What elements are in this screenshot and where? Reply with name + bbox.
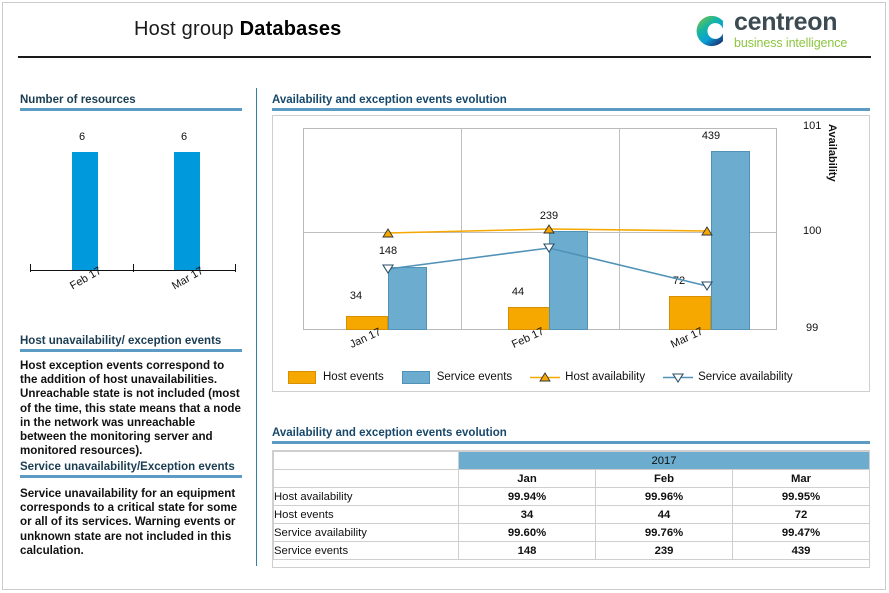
row-label: Service availability <box>274 524 459 542</box>
row-value: 44 <box>596 506 733 524</box>
resources-bar-value: 6 <box>62 131 102 143</box>
logo-name: centreon <box>734 10 847 35</box>
resources-axis-tick <box>133 264 134 272</box>
legend-label: Host availability <box>565 371 645 383</box>
table-header-month-row: Jan Feb Mar <box>274 470 870 488</box>
row-value: 439 <box>733 542 870 560</box>
host-unavailability-body: Host exception events correspond to the … <box>20 359 242 458</box>
number-of-resources-heading: Number of resources <box>20 94 136 106</box>
resources-axis-tick <box>30 264 31 272</box>
legend-label: Service events <box>437 371 512 383</box>
table-row: Host availability 99.94% 99.96% 99.95% <box>274 488 870 506</box>
table-corner-cell <box>274 452 459 470</box>
host-events-swatch-icon <box>288 371 316 384</box>
y-axis-tick-100: 100 <box>803 225 821 237</box>
table-row: Service availability 99.60% 99.76% 99.47… <box>274 524 870 542</box>
legend-label: Host events <box>323 371 384 383</box>
service-events-swatch-icon <box>402 371 430 384</box>
sidebar: Number of resources 6 Feb 17 6 Mar 17 Ho… <box>0 0 256 593</box>
legend-item-service-events[interactable]: Service events <box>402 371 512 384</box>
service-unavailability-heading: Service unavailability/Exception events <box>20 461 235 473</box>
number-of-resources-heading-underline <box>20 108 242 111</box>
legend-item-host-availability[interactable]: Host availability <box>530 371 645 384</box>
centreon-wordmark: centreon business intelligence <box>734 10 847 50</box>
row-label: Service events <box>274 542 459 560</box>
legend-label: Service availability <box>698 371 793 383</box>
row-value: 148 <box>459 542 596 560</box>
row-value: 99.60% <box>459 524 596 542</box>
centreon-logo: centreon business intelligence <box>692 11 872 51</box>
availability-line-series <box>303 128 777 330</box>
legend-item-service-availability[interactable]: Service availability <box>663 371 793 384</box>
column-divider <box>256 88 257 566</box>
host-unavailability-heading-underline <box>20 349 242 352</box>
legend-item-host-events[interactable]: Host events <box>288 371 384 384</box>
host-unavailability-heading: Host unavailability/ exception events <box>20 335 221 347</box>
service-availability-marker <box>702 282 712 290</box>
table-corner-cell <box>274 470 459 488</box>
chart-section-heading: Availability and exception events evolut… <box>272 94 507 106</box>
availability-table: 2017 Jan Feb Mar Host availability 99.94… <box>273 451 870 560</box>
table-column-header-feb: Feb <box>596 470 733 488</box>
row-value: 99.94% <box>459 488 596 506</box>
service-availability-line <box>388 248 707 286</box>
row-value: 239 <box>596 542 733 560</box>
table-column-header-mar: Mar <box>733 470 870 488</box>
chart-legend: Host events Service events Host availabi… <box>288 368 811 386</box>
triangle-up-line-icon <box>530 371 560 384</box>
report-page: Host group Databases centreon business i… <box>0 0 889 593</box>
logo-tagline: business intelligence <box>734 36 847 50</box>
table-row: Host events 34 44 72 <box>274 506 870 524</box>
y-axis-tick-101: 101 <box>803 120 821 132</box>
table-year-header: 2017 <box>459 452 870 470</box>
row-value: 99.96% <box>596 488 733 506</box>
table-row: Service events 148 239 439 <box>274 542 870 560</box>
triangle-down-line-icon <box>663 371 693 384</box>
chart-section-heading-underline <box>272 108 870 111</box>
table-header-year-row: 2017 <box>274 452 870 470</box>
row-value: 34 <box>459 506 596 524</box>
number-of-resources-chart: 6 Feb 17 6 Mar 17 <box>20 118 242 318</box>
y-axis-title: Availability <box>826 124 838 182</box>
centreon-c-icon <box>692 13 728 49</box>
row-value: 72 <box>733 506 870 524</box>
y-axis-tick-99: 99 <box>806 322 818 334</box>
availability-table-wrapper: 2017 Jan Feb Mar Host availability 99.94… <box>272 450 870 568</box>
resources-axis-tick <box>235 264 236 272</box>
row-value: 99.76% <box>596 524 733 542</box>
row-value: 99.95% <box>733 488 870 506</box>
service-unavailability-heading-underline <box>20 475 242 478</box>
resources-bar <box>72 152 98 270</box>
row-label: Host availability <box>274 488 459 506</box>
table-column-header-jan: Jan <box>459 470 596 488</box>
service-unavailability-body: Service unavailability for an equipment … <box>20 487 242 558</box>
resources-bar-value: 6 <box>164 131 204 143</box>
row-label: Host events <box>274 506 459 524</box>
table-section-heading-underline <box>272 441 870 444</box>
row-value: 99.47% <box>733 524 870 542</box>
table-section-heading: Availability and exception events evolut… <box>272 427 507 439</box>
resources-bar <box>174 152 200 270</box>
